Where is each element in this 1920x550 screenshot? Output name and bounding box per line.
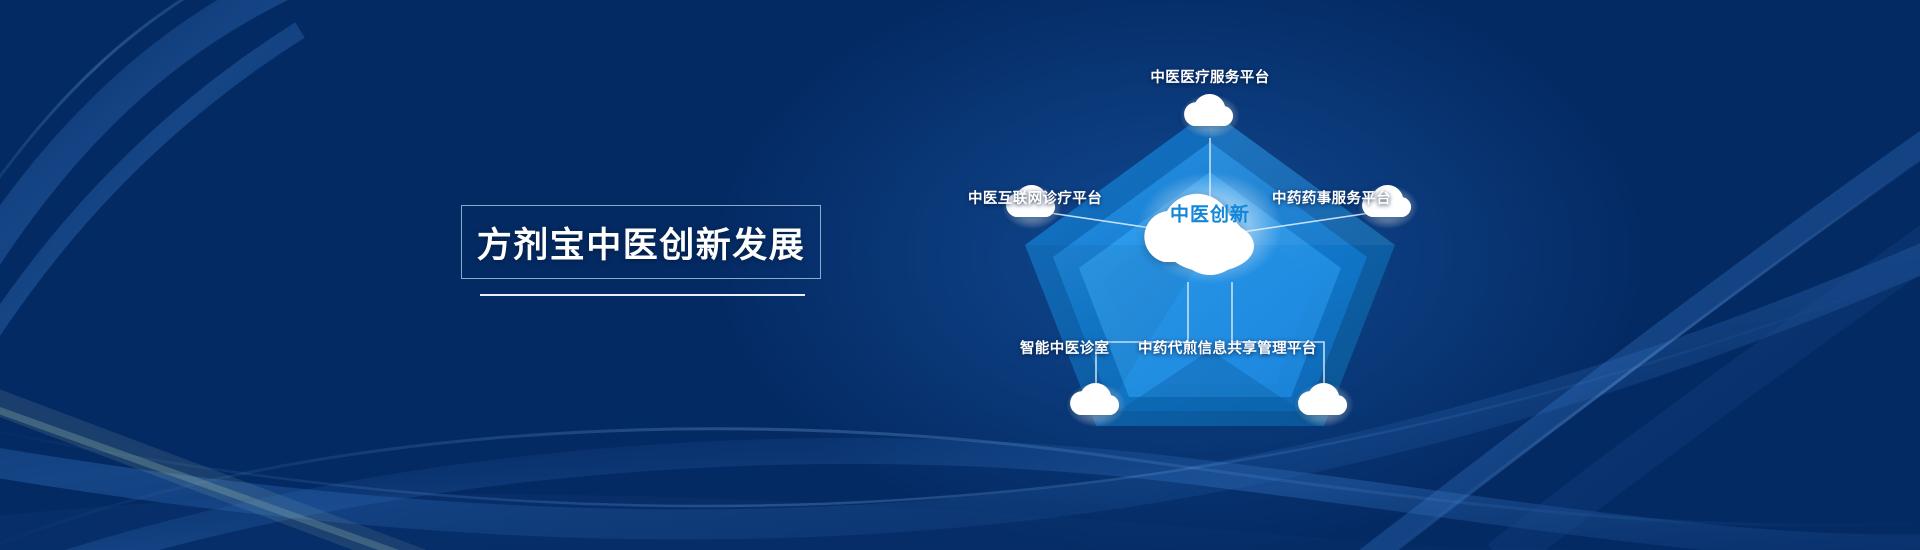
title-underline [480,294,805,296]
page-title: 方剂宝中医创新发展 [477,217,806,268]
node-label-right: 中药药事服务平台 [1272,187,1391,208]
title-block: 方剂宝中医创新发展 [461,205,821,296]
pentagon-graphic [960,50,1460,470]
pentagon-diagram: 中医创新 中医医疗服务平台 中药药事服务平台 中药代煎信息共享管理平台 智能中医… [960,50,1460,470]
node-label-left: 中医互联网诊疗平台 [968,187,1102,208]
title-frame: 方剂宝中医创新发展 [461,205,821,279]
node-label-top: 中医医疗服务平台 [1150,66,1269,87]
node-label-bottom-right: 中药代煎信息共享管理平台 [1138,337,1317,358]
node-icon-top[interactable] [1180,94,1240,138]
banner-hero: 方剂宝中医创新发展 [0,0,1920,550]
center-node-label: 中医创新 [1170,200,1250,227]
node-icon-bottom-left[interactable] [1066,383,1126,427]
center-cloud-icon[interactable] [1138,172,1282,284]
node-icon-bottom-right[interactable] [1294,383,1354,427]
node-label-bottom-left: 智能中医诊室 [1020,337,1109,358]
